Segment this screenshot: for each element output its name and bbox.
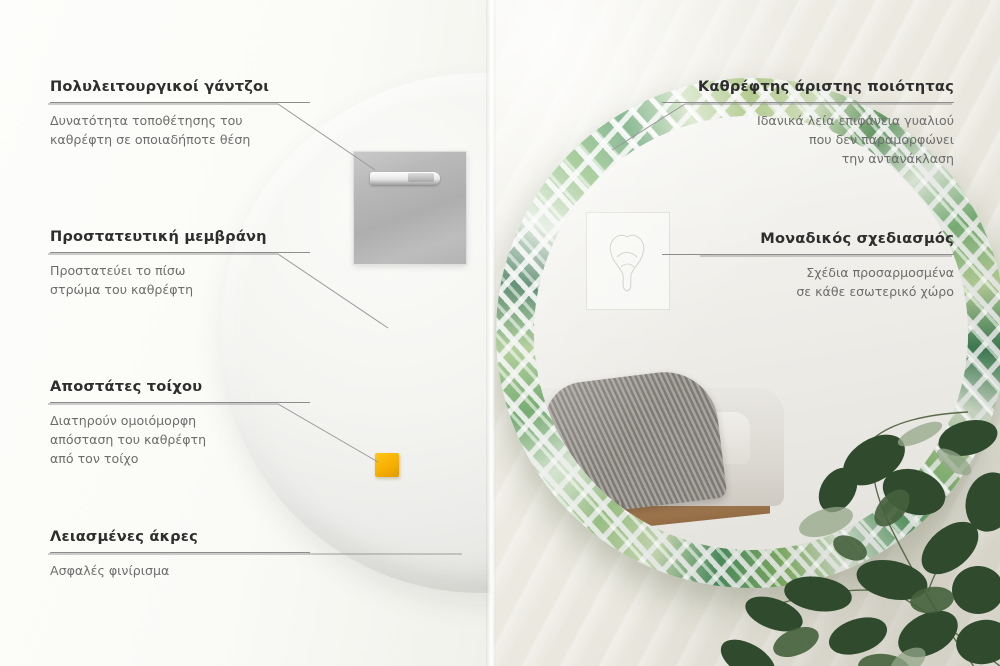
callout-rule (662, 102, 954, 103)
callout-body: Δυνατότητα τοποθέτησης του καθρέφτη σε ο… (50, 112, 310, 150)
hook-icon (370, 172, 440, 185)
callout-title: Λειασμένες άκρες (50, 528, 310, 545)
callout-body: Ασφαλές φινίρισμα (50, 562, 310, 581)
callout-rule (50, 102, 310, 103)
callout-body: Σχέδια προσαρμοσμένα σε κάθε εσωτερικό χ… (662, 264, 954, 302)
callout-wall-spacers: Αποστάτες τοίχου Διατηρούν ομοιόμορφη απ… (50, 378, 310, 469)
callout-polished-edges: Λειασμένες άκρες Ασφαλές φινίρισμα (50, 528, 310, 581)
line-art-icon (597, 223, 657, 297)
callout-title: Πολυλειτουργικοί γάντζοι (50, 78, 310, 95)
callout-body: Ιδανικά λεία επιφάνεια γυαλιού που δεν π… (662, 112, 954, 169)
callout-body: Προστατεύει το πίσω στρώμα του καθρέφτη (50, 262, 310, 300)
callout-body: Διατηρούν ομοιόμορφη απόσταση του καθρέφ… (50, 412, 310, 469)
panel-divider (486, 0, 496, 666)
callout-rule (50, 552, 310, 553)
callout-title: Μοναδικός σχεδιασμός (662, 230, 954, 247)
callout-top-quality-mirror: Καθρέφτης άριστης ποιότητας Ιδανικά λεία… (662, 78, 954, 169)
callout-title: Προστατευτική μεμβράνη (50, 228, 310, 245)
callout-rule (50, 402, 310, 403)
product-feature-infographic: Πολυλειτουργικοί γάντζοι Δυνατότητα τοπο… (0, 0, 1000, 666)
callout-multifunctional-hooks: Πολυλειτουργικοί γάντζοι Δυνατότητα τοπο… (50, 78, 310, 150)
callout-rule (50, 252, 310, 253)
foliage-branches (678, 342, 1000, 666)
callout-title: Αποστάτες τοίχου (50, 378, 310, 395)
callout-rule (662, 254, 954, 255)
reflected-wall-art (586, 212, 670, 310)
wall-spacer-icon (375, 453, 399, 477)
callout-protective-membrane: Προστατευτική μεμβράνη Προστατεύει το πί… (50, 228, 310, 300)
callout-unique-design: Μοναδικός σχεδιασμός Σχέδια προσαρμοσμέν… (662, 230, 954, 302)
hanging-bracket (353, 151, 467, 265)
callout-title: Καθρέφτης άριστης ποιότητας (662, 78, 954, 95)
